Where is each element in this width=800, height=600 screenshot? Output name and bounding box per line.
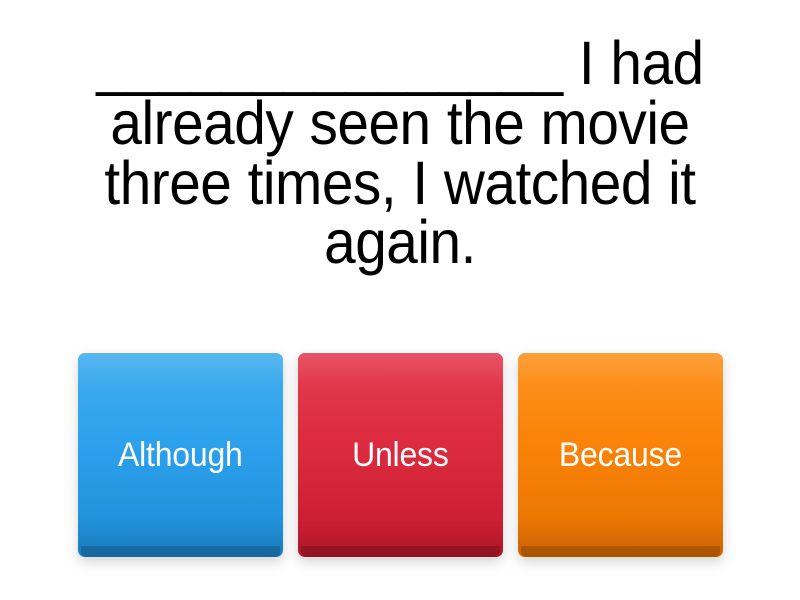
quiz-stage: _______________ I had already seen the m… <box>0 0 800 600</box>
answer-tile-because[interactable]: Because <box>518 353 723 557</box>
answer-options-row: Although Unless Because <box>0 353 800 557</box>
answer-label: Although <box>112 438 248 472</box>
answer-label: Unless <box>346 438 454 472</box>
answer-tile-unless[interactable]: Unless <box>298 353 503 557</box>
question-area: _______________ I had already seen the m… <box>20 34 780 273</box>
question-text: _______________ I had already seen the m… <box>75 34 726 273</box>
answer-tile-although[interactable]: Although <box>78 353 283 557</box>
answer-label: Because <box>553 438 687 472</box>
